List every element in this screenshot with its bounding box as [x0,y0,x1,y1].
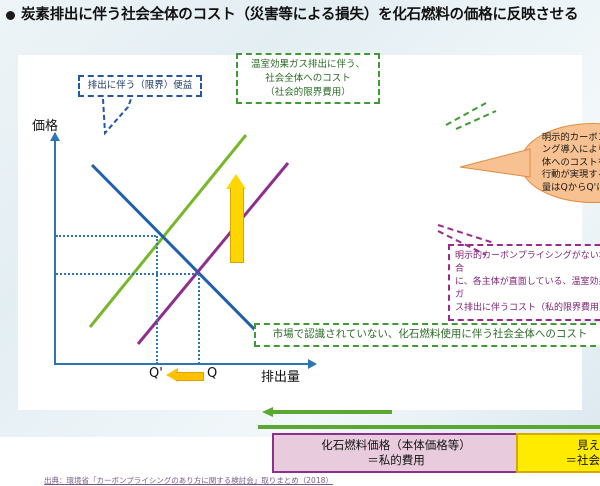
bubble-line5: 量はQからQ'に） [542,182,600,194]
y-axis [54,133,56,365]
box-private-cost-line2: ＝私的費用 [321,453,471,468]
callout-benefit-leader [73,97,213,157]
slide-root: 炭素排出に伴う社会全体のコスト（災害等による損失）を化石燃料の価格に反映させる … [0,0,600,437]
callout-unrecognized-cost: 市場で認識されていない、化石燃料使用に伴う社会全体へのコスト [254,323,600,347]
social-cost-line [90,135,246,327]
slide-headline: 炭素排出に伴う社会全体のコスト（災害等による損失）を化石燃料の価格に反映させる [6,5,594,27]
callout-social-cost-line2: 社会全体へのコスト [243,72,373,86]
box-visible-cost-line2: ＝社会的費用と私的費用の差額 [566,453,600,468]
bullet-icon [6,11,15,20]
headline-text: 炭素排出に伴う社会全体のコスト（災害等による損失）を化石燃料の価格に反映させる [21,5,578,27]
diagram-panel: 価格 排出量 Q' Q 排出に伴う（限界）便益 [18,55,582,410]
callout-private-cost: 明示的カーボンプライシングがない場合 に、各主体が直面している、温室効果ガ ス排… [448,244,600,321]
callout-carbon-pricing-bubble: 明示的カーボンプライシ ング導入により、社会全 体へのコストを考慮した 行動が実… [520,123,600,203]
price-gap-arrow-icon [226,174,246,262]
box-visible-cost-line1: 見える化されるべきコスト [566,438,600,453]
box-visible-cost: 見える化されるべきコスト ＝社会的費用と私的費用の差額 [516,433,600,473]
x-axis-label: 排出量 [261,366,300,385]
callout-marginal-benefit: 排出に伴う（限界）便益 [78,75,202,97]
bubble-line2: ング導入により、社会全 [542,144,600,156]
bubble-line3: 体へのコストを考慮した [542,157,600,169]
green-arrow-left-icon [262,407,392,417]
quantity-shift-arrow-icon [166,368,204,382]
green-arrow-right-icon [258,422,600,432]
callout-unrecognized-cost-text: 市場で認識されていない、化石燃料使用に伴う社会全体へのコスト [273,328,588,340]
bubble-line1: 明示的カーボンプライシ [542,132,600,144]
guide-quantity-qprime [156,236,158,364]
guide-price-high [56,235,156,237]
y-axis-label: 価格 [32,115,58,134]
private-cost-line [138,163,288,344]
callout-social-cost-line1: 温室効果ガス排出に伴う、 [243,58,373,72]
box-private-cost-line1: 化石燃料価格（本体価格等） [321,438,471,453]
label-q: Q [207,366,217,381]
guide-price-low [56,273,198,275]
source-footnote: 出典：環境省「カーボンプライシングのあり方に関する検討会」取りまとめ（2018） [44,475,333,486]
chart-lines [18,55,582,410]
callout-private-cost-line3: ス排出に伴うコスト（私的限界費用） [455,302,600,315]
box-private-cost: 化石燃料価格（本体価格等） ＝私的費用 [272,433,520,473]
callout-marginal-benefit-text: 排出に伴う（限界）便益 [88,80,193,91]
callout-social-cost: 温室効果ガス排出に伴う、 社会全体へのコスト （社会的限界費用） 明示的カーボン… [236,53,380,104]
label-q-prime: Q' [149,366,163,381]
callout-social-cost-line3: （社会的限界費用） [243,86,373,100]
callout-private-cost-line2: に、各主体が直面している、温室効果ガ [455,276,600,302]
callout-private-cost-line1: 明示的カーボンプライシングがない場合 [455,250,600,276]
bubble-line4: 行動が実現する（排出 [542,169,600,181]
x-axis [54,363,309,365]
guide-quantity-q [198,274,200,364]
